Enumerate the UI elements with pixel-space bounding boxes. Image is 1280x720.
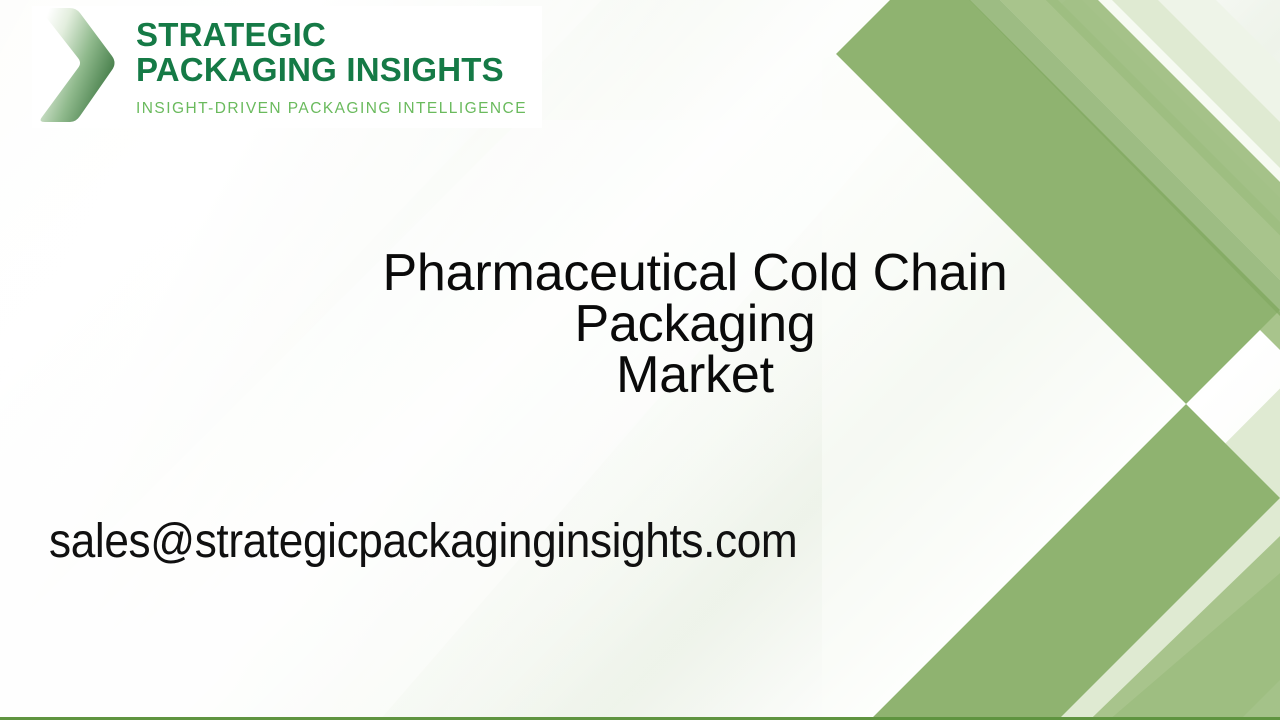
page-title: Pharmaceutical Cold Chain Packaging Mark…	[255, 248, 1135, 401]
title-line-3: Market	[255, 350, 1135, 401]
contact-email[interactable]: sales@strategicpackaginginsights.com	[49, 511, 797, 573]
logo-container[interactable]: STRATEGIC PACKAGING INSIGHTS INSIGHT-DRI…	[32, 6, 542, 128]
logo-tagline: INSIGHT-DRIVEN PACKAGING INTELLIGENCE	[136, 100, 527, 118]
title-line-1: Pharmaceutical Cold Chain	[255, 248, 1135, 299]
presentation-slide: STRATEGIC PACKAGING INSIGHTS INSIGHT-DRI…	[0, 0, 1280, 720]
logo-text-block: STRATEGIC PACKAGING INSIGHTS INSIGHT-DRI…	[136, 6, 527, 118]
chevron-right-icon	[36, 6, 118, 124]
chevron-right-icon-svg	[36, 6, 118, 124]
logo-line-2: PACKAGING INSIGHTS	[136, 52, 527, 87]
title-line-2: Packaging	[255, 299, 1135, 350]
logo-line-1: STRATEGIC	[136, 17, 527, 52]
